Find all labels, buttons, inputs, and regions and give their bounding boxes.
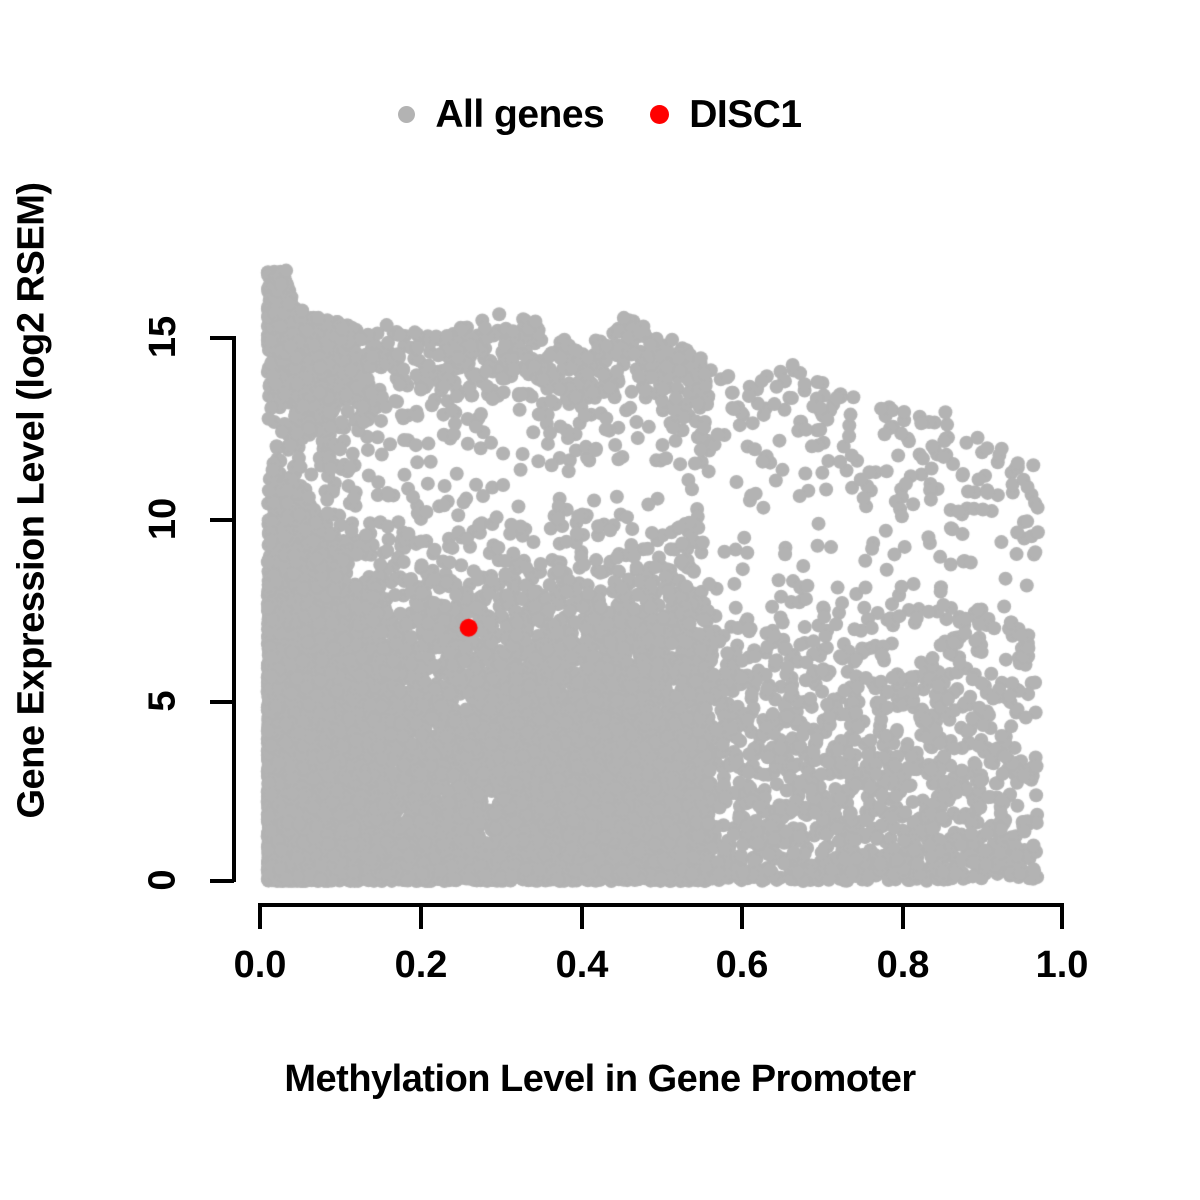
plot-area: [0, 0, 1200, 1200]
legend-entry-disc1: DISC1: [650, 95, 801, 134]
x-tick-0.4: [580, 903, 584, 929]
x-tick-0.0: [258, 903, 262, 929]
x-axis-line: [258, 903, 1064, 907]
scatter-points-canvas: [0, 0, 1200, 1200]
x-tick-label-0.4: 0.4: [522, 946, 642, 984]
x-tick-label-1.0: 1.0: [1002, 946, 1122, 984]
x-tick-0.6: [740, 903, 744, 929]
x-tick-1.0: [1060, 903, 1064, 929]
x-tick-label-0.2: 0.2: [361, 946, 481, 984]
x-tick-label-0.6: 0.6: [682, 946, 802, 984]
scatter-plot-figure: All genes DISC1 15 10 5 0 0.0 0.2 0.4 0.…: [0, 0, 1200, 1200]
y-tick-label-15: 15: [128, 318, 198, 356]
y-tick-label-10: 10: [128, 500, 198, 538]
legend-marker-all-genes-icon: [398, 106, 415, 123]
legend: All genes DISC1: [0, 86, 1200, 142]
legend-marker-disc1-icon: [650, 105, 669, 124]
y-tick-0: [210, 879, 234, 883]
y-tick-15: [210, 336, 234, 340]
x-tick-label-0.0: 0.0: [200, 946, 320, 984]
y-tick-10: [210, 518, 234, 522]
x-tick-0.2: [419, 903, 423, 929]
x-tick-label-0.8: 0.8: [843, 946, 963, 984]
legend-label-disc1: DISC1: [689, 95, 801, 134]
y-tick-label-0: 0: [128, 861, 198, 899]
y-axis-line: [232, 336, 236, 882]
x-tick-0.8: [901, 903, 905, 929]
legend-label-all-genes: All genes: [435, 95, 604, 134]
y-tick-label-5: 5: [128, 682, 198, 720]
y-tick-5: [210, 700, 234, 704]
y-axis-title: Gene Expression Level (log2 RSEM): [0, 0, 64, 1000]
x-axis-title: Methylation Level in Gene Promoter: [0, 1058, 1200, 1101]
legend-entry-all-genes: All genes: [398, 95, 604, 134]
